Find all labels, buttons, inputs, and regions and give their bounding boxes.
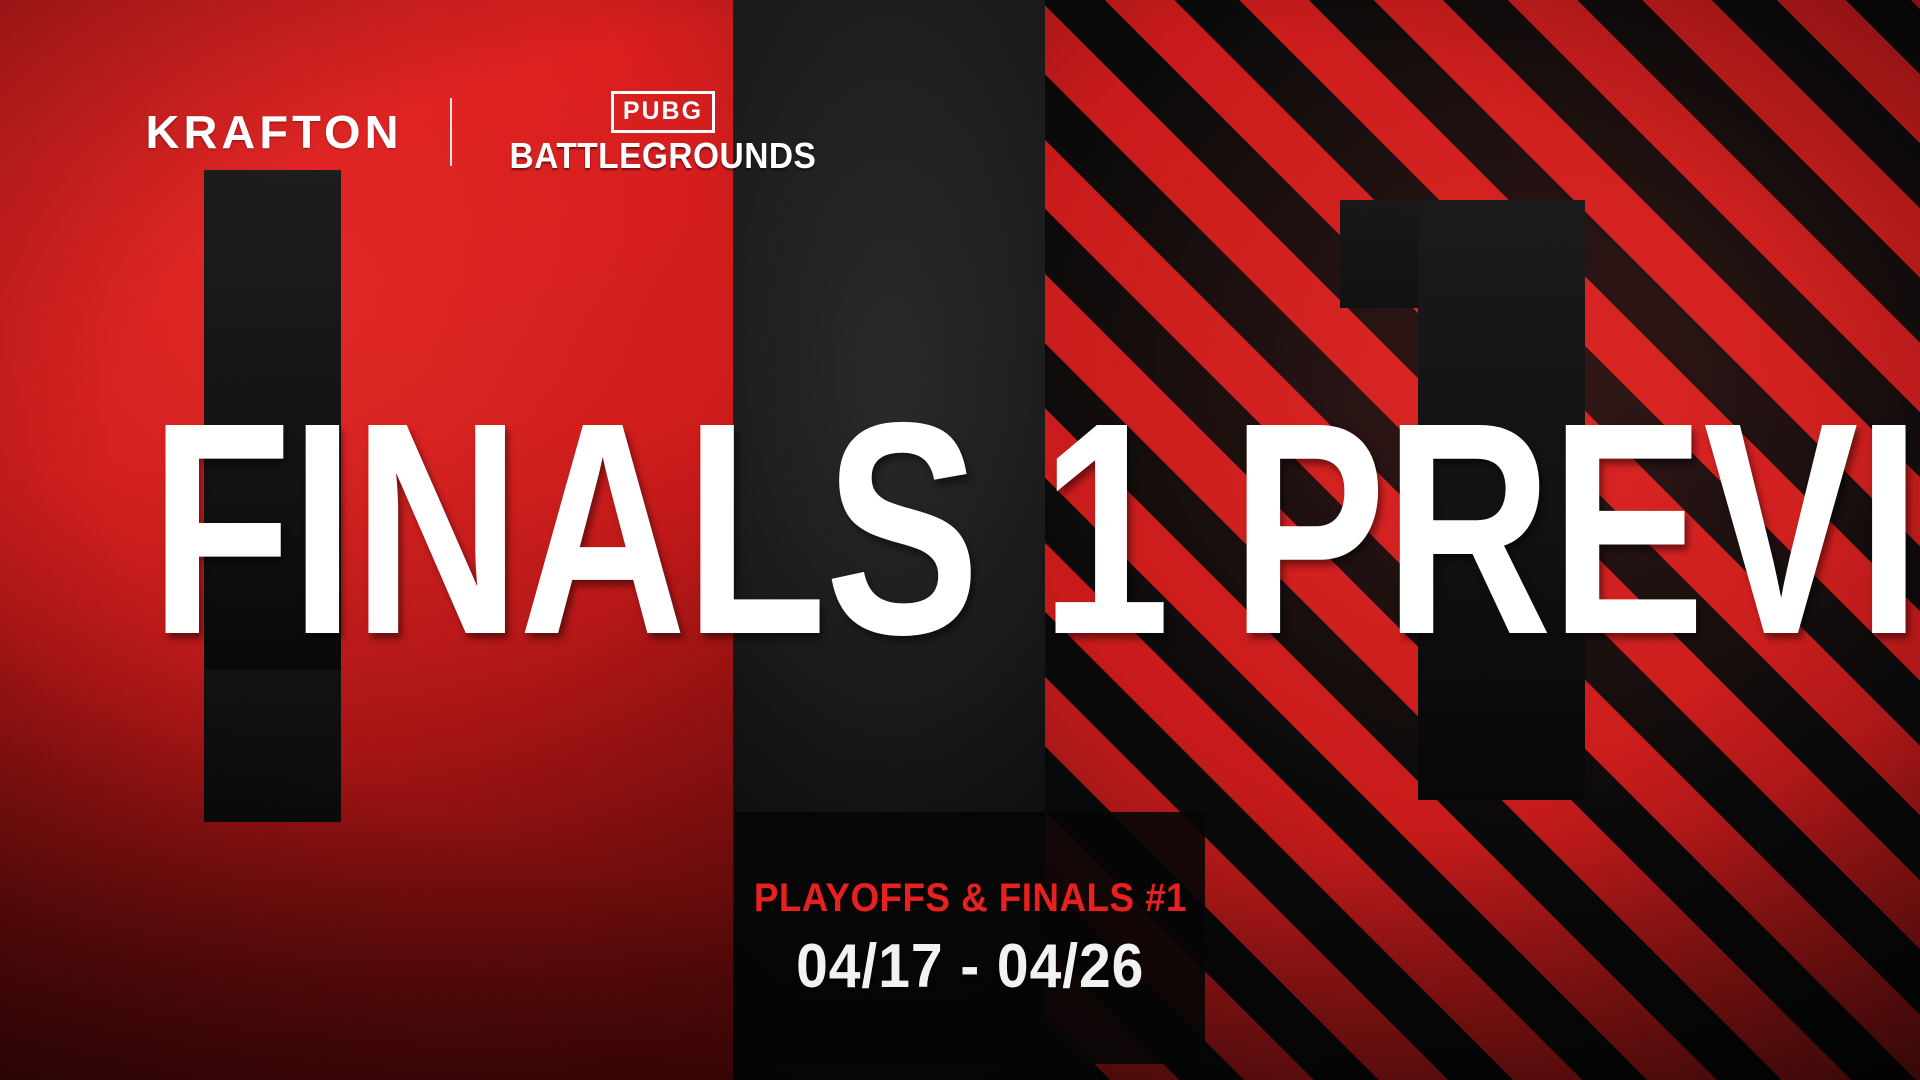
pubg-battlegrounds-logo: PUBG BATTLEGROUNDS [498, 91, 828, 174]
logo-lockup: KRAFTON PUBG BATTLEGROUNDS [148, 96, 828, 168]
krafton-logo: KRAFTON [145, 109, 402, 155]
date-range: 04/17 - 04/26 [796, 936, 1144, 998]
battlegrounds-wordmark: BATTLEGROUNDS [510, 138, 817, 174]
date-badge: PLAYOFFS & FINALS #1 04/17 - 04/26 [735, 812, 1205, 1064]
pubg-badge-icon: PUBG [611, 91, 715, 133]
event-label: PLAYOFFS & FINALS #1 [753, 878, 1186, 918]
page-title: FINALS 1 PREVIEW [150, 382, 1578, 678]
black-bar-right-flag-shape [1340, 200, 1430, 308]
logo-divider [450, 98, 452, 166]
poster-canvas: KRAFTON PUBG BATTLEGROUNDS FINALS 1 PREV… [0, 0, 1920, 1080]
